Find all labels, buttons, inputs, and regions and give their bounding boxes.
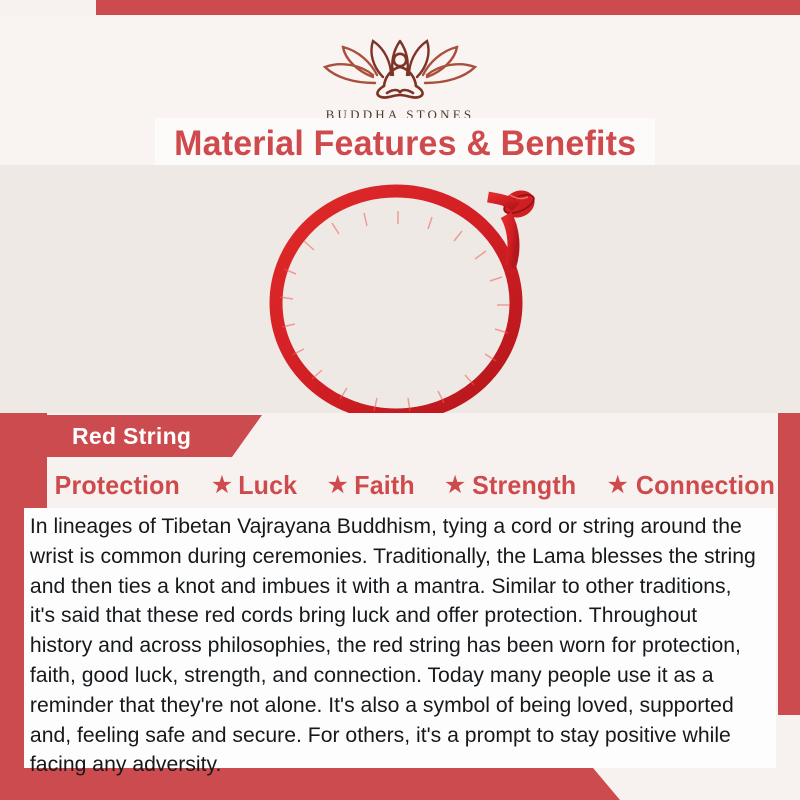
infographic-page: BUDDHA STONES Material Features & Benefi…	[0, 0, 800, 800]
bracelet-upper-cord	[488, 197, 516, 207]
star-icon: ★	[607, 473, 629, 498]
top-accent-bar	[96, 0, 800, 15]
page-title-box: Material Features & Benefits	[155, 118, 655, 170]
material-banner: Red String	[0, 415, 262, 457]
benefit-item-protection: ★ Protection	[26, 470, 183, 501]
star-icon: ★	[26, 473, 48, 498]
description-text: In lineages of Tibetan Vajrayana Buddhis…	[24, 512, 765, 780]
bracelet-tail	[506, 215, 513, 267]
page-title: Material Features & Benefits	[174, 124, 636, 164]
lotus-meditation-figure-icon	[315, 33, 485, 105]
benefit-item-strength: ★ Strength	[444, 470, 579, 501]
material-banner-label: Red String	[72, 423, 191, 450]
description-panel: In lineages of Tibetan Vajrayana Buddhis…	[24, 508, 776, 768]
bracelet-loop	[276, 191, 516, 413]
benefit-label: Luck	[238, 470, 297, 501]
red-string-bracelet-image	[238, 165, 568, 413]
brand-logo: BUDDHA STONES	[0, 33, 800, 123]
star-icon: ★	[327, 473, 349, 498]
star-icon: ★	[444, 473, 466, 498]
product-image-panel	[0, 165, 800, 413]
benefit-label: Protection	[55, 470, 180, 501]
benefits-row: ★ Protection ★ Luck ★ Faith ★ Strength ★…	[26, 464, 778, 506]
benefit-item-faith: ★ Faith	[327, 470, 417, 501]
benefit-label: Strength	[472, 470, 576, 501]
benefit-label: Connection	[636, 470, 775, 501]
benefit-label: Faith	[354, 470, 415, 501]
benefit-item-connection: ★ Connection	[607, 470, 778, 501]
benefit-item-luck: ★ Luck	[211, 470, 299, 501]
header-section: BUDDHA STONES Material Features & Benefi…	[0, 15, 800, 165]
star-icon: ★	[211, 473, 233, 498]
